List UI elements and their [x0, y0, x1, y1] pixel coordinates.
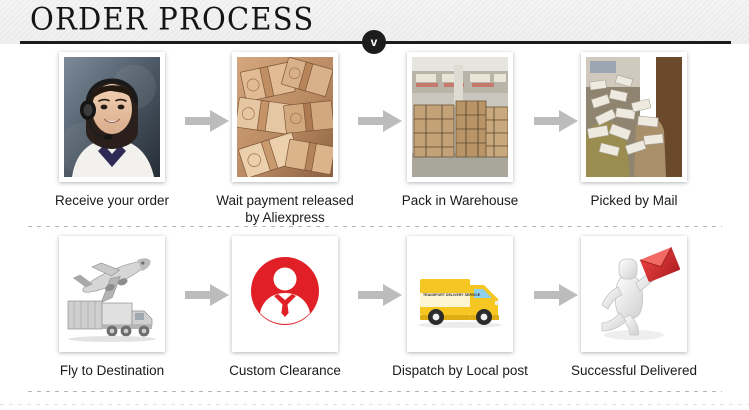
process-step-6[interactable]: Custom Clearance — [210, 236, 360, 379]
chevron-down-icon[interactable]: v — [362, 30, 386, 54]
process-step-7[interactable]: TRANSPORT DELIVERY SERVICE Dispatch by L… — [384, 236, 536, 379]
customer-service-agent-photo — [64, 57, 160, 177]
step-1-caption: Receive your order — [36, 192, 188, 209]
process-step-3[interactable]: Pack in Warehouse — [384, 52, 536, 209]
page-footer-separator — [0, 404, 749, 405]
mail-sacks-parcels-photo — [586, 57, 682, 177]
step-8-card — [581, 236, 687, 352]
step-2-card — [232, 52, 338, 182]
step-4-caption: Picked by Mail — [558, 192, 710, 209]
page-title: ORDER PROCESS — [30, 1, 314, 37]
customs-officer-icon — [237, 241, 333, 347]
yellow-delivery-truck-illustration: TRANSPORT DELIVERY SERVICE — [412, 241, 508, 347]
row-separator-2 — [28, 391, 722, 392]
step-8-caption: Successful Delivered — [558, 362, 710, 379]
step-7-card: TRANSPORT DELIVERY SERVICE — [407, 236, 513, 352]
airplane-cargo-truck-photo — [64, 241, 160, 347]
step-1-card — [59, 52, 165, 182]
step-6-card — [232, 236, 338, 352]
delivery-runner-icon — [586, 241, 682, 347]
process-step-2[interactable]: Wait payment released by Aliexpress — [210, 52, 360, 226]
process-row-2: Fly to Destination Custom Cleara — [0, 236, 749, 376]
process-step-5[interactable]: Fly to Destination — [36, 236, 188, 379]
row-separator-1 — [28, 226, 722, 227]
step-2-caption: Wait payment released by Aliexpress — [210, 192, 360, 226]
process-step-8[interactable]: Successful Delivered — [558, 236, 710, 379]
stack-of-dollar-bills-photo — [237, 57, 333, 177]
step-4-card — [581, 52, 687, 182]
step-3-card — [407, 52, 513, 182]
process-step-4[interactable]: Picked by Mail — [558, 52, 710, 209]
step-7-caption: Dispatch by Local post — [384, 362, 536, 379]
process-step-1[interactable]: Receive your order — [36, 52, 188, 209]
warehouse-pallets-photo — [412, 57, 508, 177]
step-5-card — [59, 236, 165, 352]
step-3-caption: Pack in Warehouse — [384, 192, 536, 209]
step-5-caption: Fly to Destination — [36, 362, 188, 379]
page-header: ORDER PROCESS v — [0, 0, 749, 44]
process-row-1: Receive your order — [0, 52, 749, 212]
step-6-caption: Custom Clearance — [210, 362, 360, 379]
